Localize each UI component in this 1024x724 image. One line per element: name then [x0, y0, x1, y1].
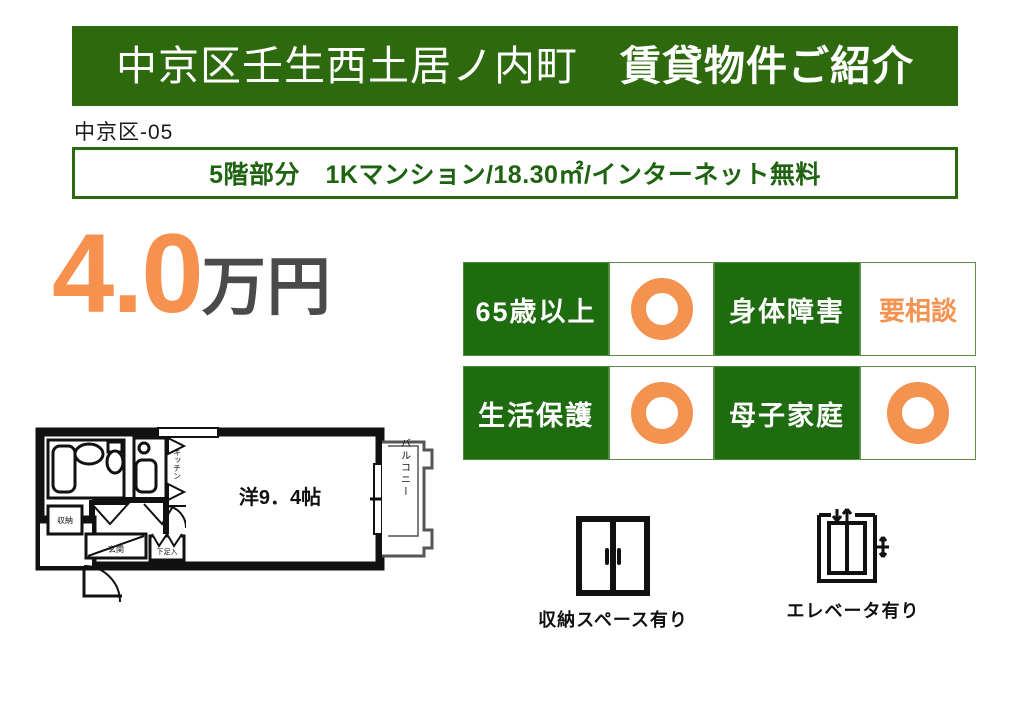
floorplan-shoebox-label: 下足入: [157, 548, 178, 556]
elevator-icon: [753, 503, 953, 591]
eligibility-value-welfare: [609, 366, 714, 460]
floorplan-kitchen-label: キッチン: [173, 448, 182, 480]
eligibility-label-disability: 身体障害: [714, 262, 860, 356]
circle-ok-icon: [631, 278, 693, 340]
amenity-storage: 収納スペース有り: [513, 512, 713, 632]
circle-ok-icon: [631, 382, 693, 444]
floorplan-closet-label: 収納: [57, 515, 73, 525]
header-title-suffix: 賃貸物件ご紹介: [620, 43, 914, 89]
floorplan-room-label: 洋9．4帖: [239, 485, 321, 509]
property-code: 中京区-05: [74, 116, 173, 146]
header-banner: 中京区壬生西土居ノ内町 賃貸物件ご紹介: [72, 26, 958, 106]
property-spec-text: 5階部分 1Kマンション/18.30㎡/インターネット無料: [209, 155, 821, 191]
consult-required-text: 要相談: [879, 291, 957, 328]
floorplan-image: キッチン 収納 玄関 下足入 洋9．4帖: [26, 424, 446, 614]
eligibility-label-senior: 65歳以上: [463, 262, 609, 356]
amenity-storage-label: 収納スペース有り: [513, 606, 713, 632]
eligibility-label-single-parent: 母子家庭: [714, 366, 860, 460]
price-unit: 万円: [202, 255, 332, 325]
storage-closet-icon: [513, 512, 713, 600]
eligibility-table: 65歳以上 身体障害 要相談 生活保護 母子家庭: [463, 262, 976, 470]
price-block: 4.0 万円: [52, 222, 332, 325]
circle-ok-icon: [887, 382, 949, 444]
floorplan-entrance-label: 玄関: [108, 544, 124, 554]
amenity-elevator: エレベータ有り: [753, 503, 953, 623]
eligibility-row: 生活保護 母子家庭: [463, 366, 976, 460]
amenity-elevator-label: エレベータ有り: [753, 597, 953, 623]
eligibility-row: 65歳以上 身体障害 要相談: [463, 262, 976, 356]
price-value: 4.0: [52, 222, 202, 325]
property-spec-box: 5階部分 1Kマンション/18.30㎡/インターネット無料: [72, 147, 958, 199]
eligibility-value-disability: 要相談: [860, 262, 976, 356]
eligibility-label-welfare: 生活保護: [463, 366, 609, 460]
page-title: 中京区壬生西土居ノ内町 賃貸物件ご紹介: [116, 46, 914, 87]
header-area-name: 中京区壬生西土居ノ内町: [116, 43, 578, 89]
eligibility-value-senior: [609, 262, 714, 356]
floorplan-balcony-label: バルコニー: [399, 438, 411, 498]
eligibility-value-single-parent: [860, 366, 976, 460]
header-title-spacer: [578, 43, 620, 89]
